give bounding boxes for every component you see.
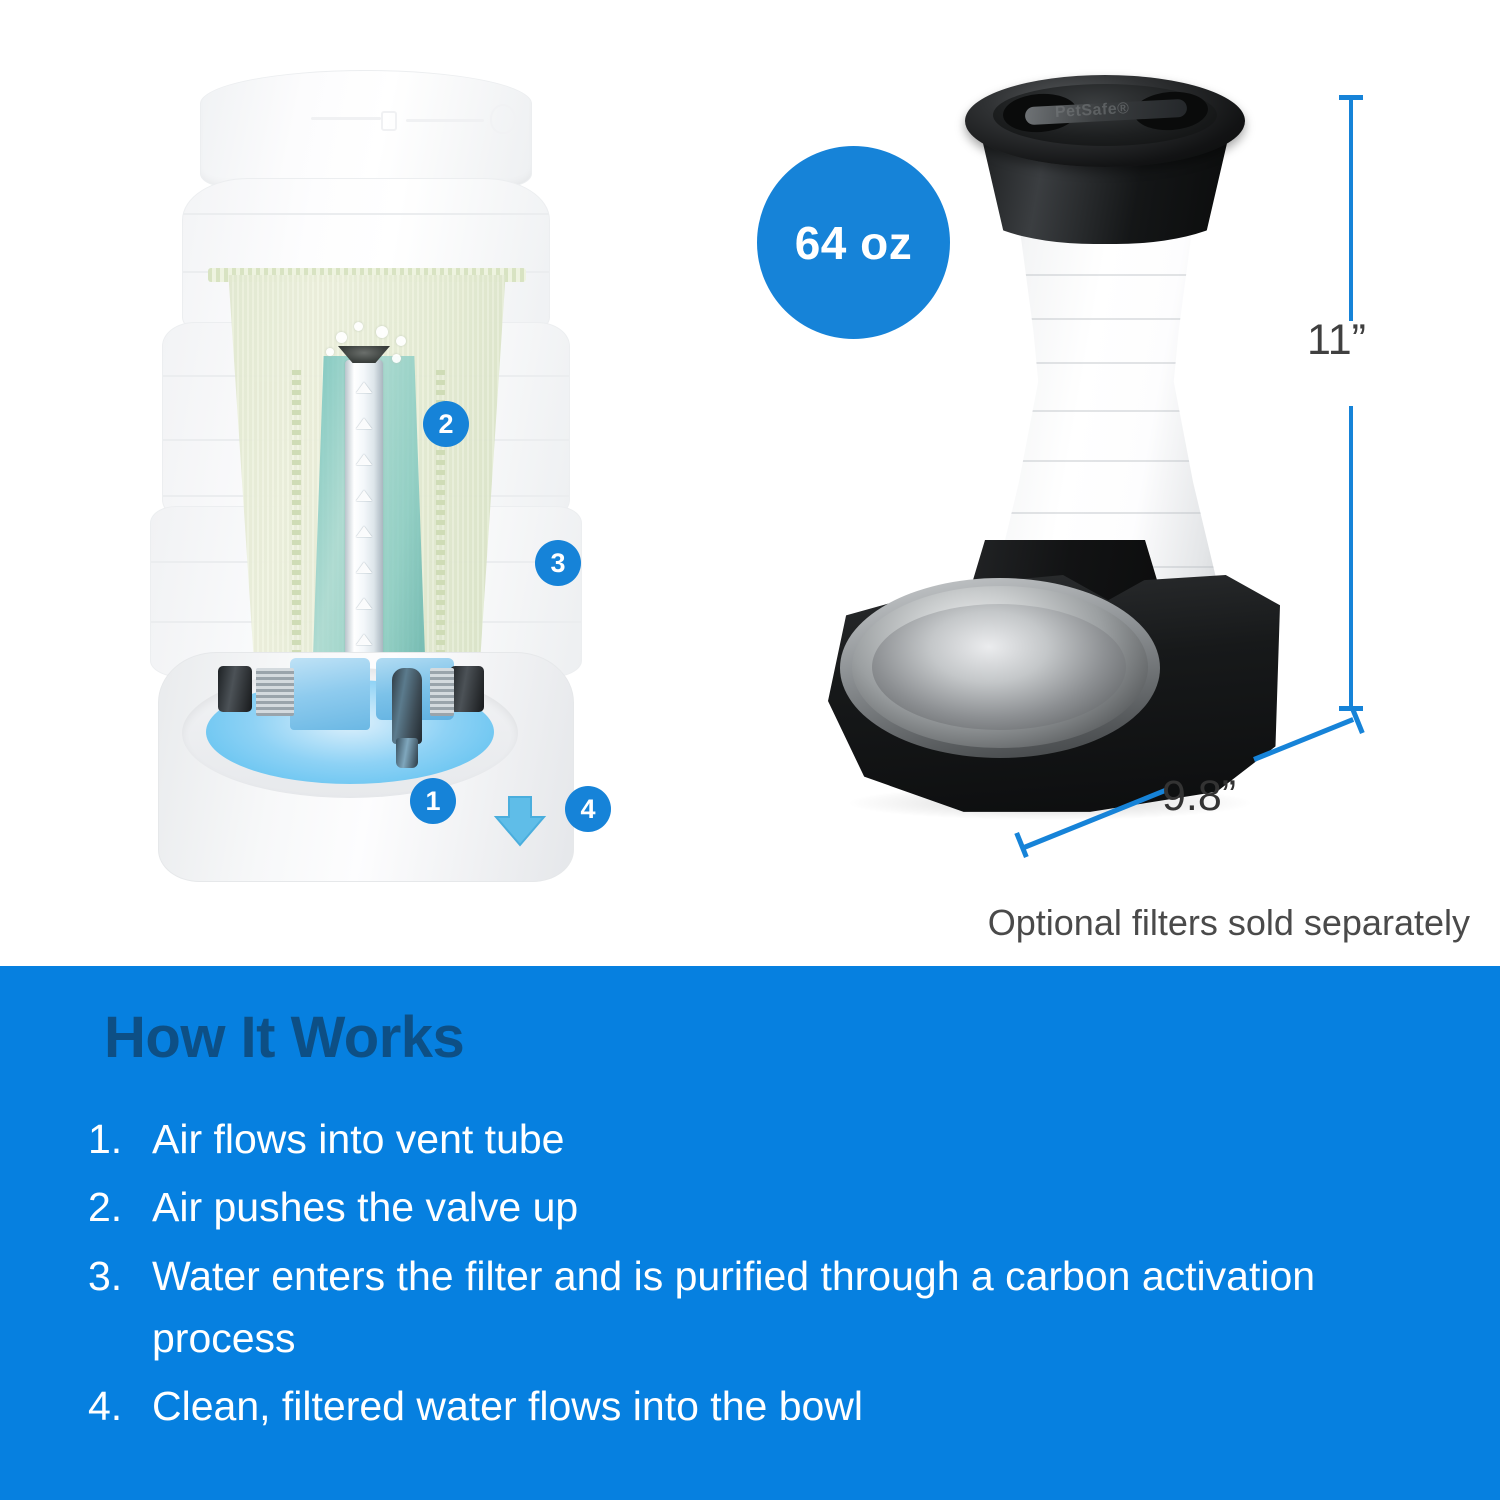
bottle-rib <box>1007 410 1207 412</box>
air-flow-arrow-icon <box>356 490 372 501</box>
height-dimension-label: 11” <box>1307 316 1366 365</box>
list-item: 3. Water enters the filter and is purifi… <box>88 1245 1418 1370</box>
filter-zigzag-left <box>292 370 301 670</box>
how-it-works-steps: 1. Air flows into vent tube 2. Air pushe… <box>88 1108 1418 1444</box>
bottle-rib <box>1025 274 1189 276</box>
water-outflow-arrow-icon <box>492 795 548 847</box>
air-bubble <box>326 348 334 356</box>
lid-emboss-icon <box>490 104 516 134</box>
valve-clip-left <box>218 666 252 712</box>
dimension-line-upper <box>1349 99 1353 321</box>
stainless-steel-bowl-inner <box>872 604 1126 730</box>
callout-badge-3: 3 <box>535 540 581 586</box>
lid-emboss-line-left <box>311 117 381 120</box>
callout-badge-2: 2 <box>423 401 469 447</box>
callout-badge-4: 4 <box>565 786 611 832</box>
step-text: Water enters the filter and is purified … <box>152 1245 1418 1370</box>
step-text: Clean, filtered water flows into the bow… <box>152 1375 1418 1437</box>
list-item: 2. Air pushes the valve up <box>88 1176 1418 1238</box>
step-number: 2. <box>88 1176 152 1238</box>
air-flow-arrow-icon <box>356 562 372 573</box>
step-number: 1. <box>88 1108 152 1170</box>
infographic-page: 1 2 3 4 64 oz <box>0 0 1500 1500</box>
diagram-lid-ghost <box>200 70 532 187</box>
bottle-rib <box>993 512 1219 514</box>
valve-body-left <box>290 658 370 730</box>
filters-disclaimer-caption: Optional filters sold separately <box>0 902 1470 944</box>
air-bubble <box>336 332 347 343</box>
product-photo: PetSafe® <box>810 70 1320 880</box>
step-number: 3. <box>88 1245 152 1307</box>
lid-emboss-line-right <box>406 119 484 122</box>
how-it-works-title: How It Works <box>104 1004 464 1071</box>
bottle-rib <box>1013 362 1201 364</box>
width-dimension-label: 9.8” <box>1162 772 1236 821</box>
step-number: 4. <box>88 1375 152 1437</box>
valve-clip-right <box>450 666 484 712</box>
valve-rings-right <box>430 668 454 716</box>
air-flow-arrow-icon <box>356 598 372 609</box>
cutaway-diagram: 1 2 3 4 <box>140 70 600 880</box>
bottle-rib <box>999 460 1213 462</box>
step-text: Air flows into vent tube <box>152 1108 1418 1170</box>
callout-badge-1: 1 <box>410 778 456 824</box>
list-item: 4. Clean, filtered water flows into the … <box>88 1375 1418 1437</box>
valve-spout-tip <box>396 738 418 768</box>
valve-spout <box>392 668 422 744</box>
lid-emboss-icon-small <box>381 111 397 131</box>
air-flow-arrow-icon <box>356 634 372 645</box>
air-flow-arrow-icon <box>356 454 372 465</box>
product-illustration-area: 1 2 3 4 64 oz <box>0 0 1500 966</box>
air-bubble <box>354 322 363 331</box>
shell-rib <box>183 213 549 215</box>
valve-rings-left <box>256 668 294 716</box>
air-bubble <box>396 336 406 346</box>
vent-tube <box>345 360 383 700</box>
air-flow-arrow-icon <box>356 526 372 537</box>
list-item: 1. Air flows into vent tube <box>88 1108 1418 1170</box>
air-bubble <box>376 326 388 338</box>
air-bubble <box>392 354 401 363</box>
bottle-rib <box>1019 318 1195 320</box>
air-flow-arrow-icon <box>356 418 372 429</box>
step-text: Air pushes the valve up <box>152 1176 1418 1238</box>
air-flow-arrow-icon <box>356 382 372 393</box>
dimension-line-lower <box>1349 406 1353 706</box>
